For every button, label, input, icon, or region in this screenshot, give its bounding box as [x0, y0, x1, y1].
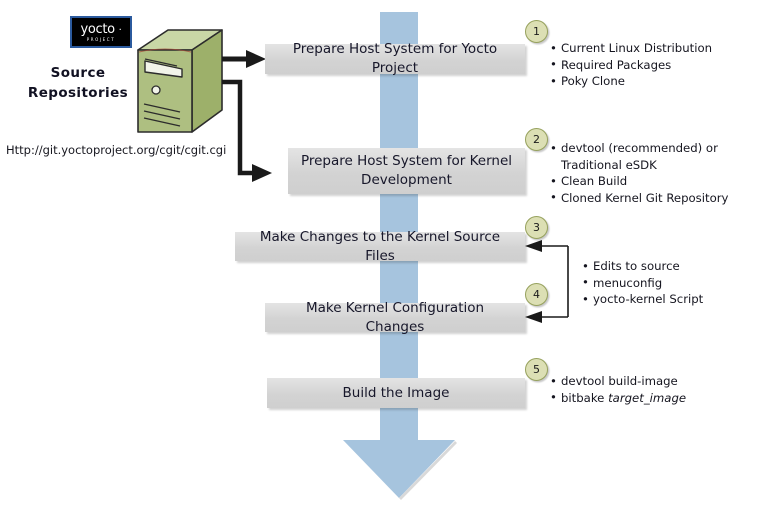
source-label-line2: Repositories — [16, 83, 140, 103]
process-box-step-2[interactable]: Prepare Host System for Kernel Developme… — [288, 148, 525, 194]
process-box-label: Prepare Host System for Kernel Developme… — [298, 152, 515, 190]
process-box-step-1[interactable]: Prepare Host System for Yocto Project — [265, 44, 525, 74]
process-box-label: Make Changes to the Kernel Source Files — [245, 228, 515, 266]
step-number-4: 4 — [525, 283, 548, 306]
bullet-item: yocto-kernel Script — [593, 291, 760, 308]
source-repositories-label: Source Repositories — [16, 63, 140, 103]
bullet-item: Cloned Kernel Git Repository — [561, 190, 766, 207]
source-label-line1: Source — [16, 63, 140, 83]
logo-subtitle: PROJECT — [87, 38, 115, 42]
process-box-step-5[interactable]: Build the Image — [267, 378, 525, 408]
step-number-2: 2 — [525, 128, 548, 151]
bullet-item: Clean Build — [561, 173, 766, 190]
yocto-project-logo: yocto · PROJECT — [70, 16, 132, 48]
step-number-5: 5 — [525, 358, 548, 381]
step-2-bullet-list: devtool (recommended) or Traditional eSD… — [548, 140, 766, 206]
bullet-item: bitbake target_image — [561, 390, 758, 407]
process-box-step-4[interactable]: Make Kernel Configuration Changes — [265, 303, 525, 332]
bullet-item: devtool (recommended) or Traditional eSD… — [561, 140, 766, 173]
diagram-canvas: yocto · PROJECT Source Repositories Http… — [0, 0, 769, 517]
step-number-3: 3 — [525, 216, 548, 239]
logo-wordmark: yocto · — [80, 23, 121, 36]
steps-3-4-bullet-list: Edits to source menuconfig yocto-kernel … — [580, 258, 760, 308]
process-box-label: Make Kernel Configuration Changes — [275, 299, 515, 337]
server-tower-icon — [132, 28, 228, 140]
bullet-item: Required Packages — [561, 57, 763, 74]
bullet-italic-token: target_image — [608, 391, 686, 405]
bullet-item: Poky Clone — [561, 73, 763, 90]
step-1-bullet-list: Current Linux Distribution Required Pack… — [548, 40, 763, 90]
process-box-label: Prepare Host System for Yocto Project — [275, 40, 515, 78]
source-repositories-url: Http://git.yoctoproject.org/cgit/cgit.cg… — [6, 143, 226, 157]
bullet-item: Current Linux Distribution — [561, 40, 763, 57]
bullet-item: menuconfig — [593, 275, 760, 292]
bullet-item: Edits to source — [593, 258, 760, 275]
process-box-step-3[interactable]: Make Changes to the Kernel Source Files — [235, 232, 525, 261]
step-number-1: 1 — [525, 20, 548, 43]
process-box-label: Build the Image — [343, 384, 450, 403]
bullet-item: devtool build-image — [561, 373, 758, 390]
step-5-bullet-list: devtool build-image bitbake target_image — [548, 373, 758, 406]
